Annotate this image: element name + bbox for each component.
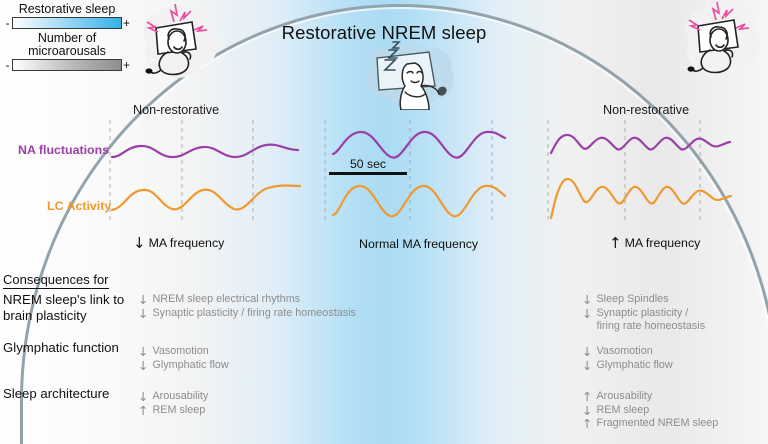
signal-traces xyxy=(0,0,768,444)
list-item-text: Vasomotion xyxy=(596,345,652,359)
list-item-text: Synaptic plasticity / firing rate homeos… xyxy=(596,307,705,334)
arrow-icon: ↓ xyxy=(138,307,148,320)
list-item-text: Glymphatic flow xyxy=(596,359,672,373)
time-scale-bar: 50 sec xyxy=(329,157,407,175)
list-item: ↓ NREM sleep electrical rhythms xyxy=(138,293,356,307)
scale-bar-label: 50 sec xyxy=(329,157,407,171)
ma-frequency-text-right: MA frequency xyxy=(625,236,701,250)
list-item-text: Glymphatic flow xyxy=(152,359,228,373)
list-item: ↓ Glymphatic flow xyxy=(138,359,229,373)
arrow-icon: ↑ xyxy=(582,417,592,430)
consequences-title: Consequences for xyxy=(3,272,109,289)
figure-canvas: Restorative sleep - + Number of microaro… xyxy=(0,0,768,444)
list-item-text: REM sleep xyxy=(152,404,205,418)
lc-trace-middle xyxy=(333,186,505,216)
list-item: ↓ Arousability xyxy=(138,390,208,404)
list-item: ↓ Glymphatic flow xyxy=(582,359,673,373)
list-item-text: Sleep Spindles xyxy=(596,293,668,307)
consequences-row-label-architecture: Sleep architecture xyxy=(3,386,109,402)
list-item: ↓ Synaptic plasticity / firing rate home… xyxy=(582,307,705,334)
list-item-text: Arousability xyxy=(596,390,652,404)
list-item-text: Vasomotion xyxy=(152,345,208,359)
arrow-icon: ↓ xyxy=(582,359,592,372)
list-item: ↓ Vasomotion xyxy=(138,345,229,359)
arrow-icon: ↓ xyxy=(582,345,592,358)
list-item: ↓ Synaptic plasticity / firing rate home… xyxy=(138,307,356,321)
ma-frequency-caption-middle: Normal MA frequency xyxy=(359,237,478,251)
list-item: ↓ REM sleep xyxy=(582,404,718,418)
arrow-icon: ↓ xyxy=(138,293,148,306)
ma-frequency-caption-right: ↑ MA frequency xyxy=(609,236,700,250)
list-item-text: Fragmented NREM sleep xyxy=(596,417,718,431)
na-trace-right xyxy=(551,135,730,153)
consequences-left-group-plasticity: ↓ NREM sleep electrical rhythms ↓ Synapt… xyxy=(138,293,356,320)
list-item: ↑ Fragmented NREM sleep xyxy=(582,417,718,431)
lc-trace-left xyxy=(112,186,300,211)
list-item-text: Synaptic plasticity / firing rate homeos… xyxy=(152,307,355,321)
na-trace-middle xyxy=(333,132,505,158)
consequences-right-group-architecture: ↑ Arousability ↓ REM sleep ↑ Fragmented … xyxy=(582,390,718,431)
consequences-left-group-architecture: ↓ Arousability ↑ REM sleep xyxy=(138,390,208,417)
arrow-icon: ↑ xyxy=(138,404,148,417)
scale-bar-line xyxy=(329,172,407,175)
arrow-icon: ↓ xyxy=(582,293,592,306)
list-item: ↑ REM sleep xyxy=(138,404,208,418)
arrow-icon: ↓ xyxy=(138,390,148,403)
ma-frequency-text-left: MA frequency xyxy=(149,236,225,250)
lc-trace-right xyxy=(551,179,731,218)
list-item-text: Arousability xyxy=(152,390,208,404)
list-item: ↓ Sleep Spindles xyxy=(582,293,705,307)
arrow-icon: ↓ xyxy=(138,359,148,372)
list-item-text: REM sleep xyxy=(596,404,649,418)
ma-frequency-text-middle: Normal MA frequency xyxy=(359,237,478,251)
arrow-icon: ↓ xyxy=(138,345,148,358)
consequences-row-label-plasticity: NREM sleep's link to brain plasticity xyxy=(3,292,124,323)
ma-frequency-caption-left: ↓ MA frequency xyxy=(133,236,224,250)
na-trace-left xyxy=(112,145,298,157)
arrow-up-icon: ↑ xyxy=(609,237,622,249)
consequences-right-group-glymphatic: ↓ Vasomotion ↓ Glymphatic flow xyxy=(582,345,673,372)
list-item: ↑ Arousability xyxy=(582,390,718,404)
arrow-icon: ↓ xyxy=(582,307,592,320)
list-item: ↓ Vasomotion xyxy=(582,345,673,359)
consequences-row-label-glymphatic: Glymphatic function xyxy=(3,340,119,356)
consequences-right-group-plasticity: ↓ Sleep Spindles ↓ Synaptic plasticity /… xyxy=(582,293,705,334)
arrow-down-icon: ↓ xyxy=(133,237,146,249)
consequences-left-group-glymphatic: ↓ Vasomotion ↓ Glymphatic flow xyxy=(138,345,229,372)
arrow-icon: ↑ xyxy=(582,390,592,403)
list-item-text: NREM sleep electrical rhythms xyxy=(152,293,300,307)
arrow-icon: ↓ xyxy=(582,404,592,417)
